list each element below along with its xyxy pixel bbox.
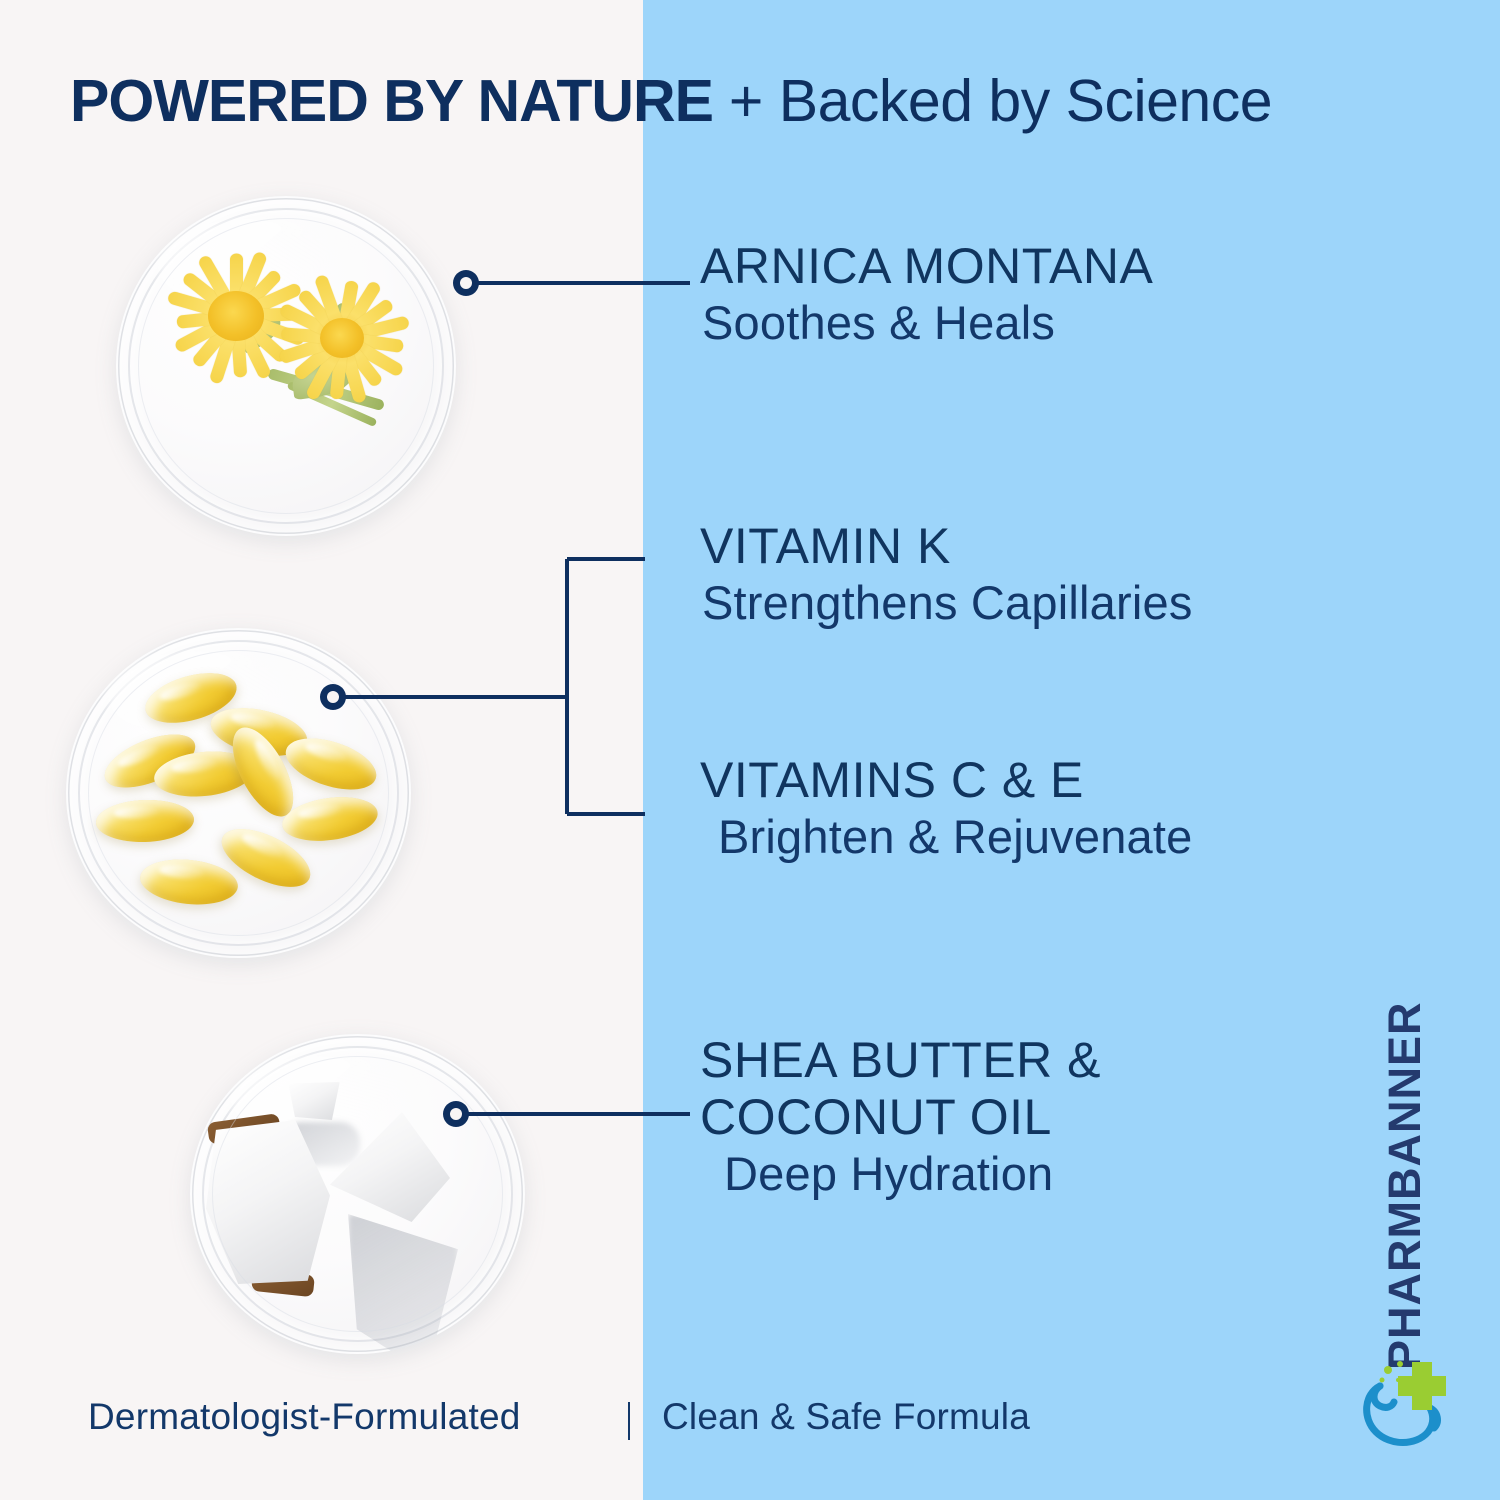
- softgel-capsule: [280, 729, 383, 800]
- ingredient-arnica: ARNICA MONTANA Soothes & Heals: [700, 238, 1153, 350]
- ingredient-vitamins-c-e: VITAMINS C & E Brighten & Rejuvenate: [700, 752, 1193, 864]
- softgel-capsules-petri-dish: [66, 628, 411, 958]
- flower-stem: [267, 368, 385, 412]
- flower-center: [320, 318, 364, 358]
- headline-bold: POWERED BY NATURE: [70, 68, 713, 134]
- flower-center: [208, 291, 264, 341]
- footer-claim-left: Dermatologist-Formulated: [88, 1396, 521, 1438]
- ingredient-shea-coconut: SHEA BUTTER & COCONUT OIL Deep Hydration: [700, 1032, 1101, 1201]
- flower-leaf: [316, 302, 356, 346]
- softgel-capsule: [206, 700, 311, 763]
- coconut-pieces-petri-dish: [190, 1034, 525, 1354]
- coconut-shadow: [282, 1122, 360, 1166]
- ingredient-vitamin-k: VITAMIN K Strengthens Capillaries: [700, 518, 1193, 630]
- coconut-piece: [330, 1112, 450, 1222]
- ingredient-title-vitamin-k: VITAMIN K: [700, 518, 1193, 575]
- softgel-capsule: [138, 855, 240, 909]
- ingredient-title-vitamins-c-e: VITAMINS C & E: [700, 752, 1193, 809]
- brand-block: PHARMBANNER: [1372, 950, 1442, 1370]
- arnica-flower-petri-dish: [116, 196, 456, 536]
- flower-leaf: [236, 311, 287, 354]
- softgel-capsule: [152, 747, 256, 801]
- dish-gloss: [230, 1053, 438, 1149]
- page-title: POWERED BY NATURE + Backed by Science: [70, 72, 1470, 131]
- ingredient-subtitle-vitamin-k: Strengthens Capillaries: [702, 575, 1193, 630]
- ingredient-title-arnica: ARNICA MONTANA: [700, 238, 1153, 295]
- softgel-capsule: [95, 798, 194, 843]
- footer-divider: [628, 1402, 630, 1440]
- softgel-capsule: [221, 718, 306, 825]
- headline-light: + Backed by Science: [713, 68, 1272, 134]
- softgel-capsule: [140, 664, 242, 732]
- coconut-piece: [206, 1120, 330, 1284]
- dish-gloss: [107, 648, 321, 747]
- dish-gloss: [157, 216, 368, 318]
- ingredient-title-shea-line1: SHEA BUTTER &: [700, 1032, 1101, 1089]
- softgel-capsule: [98, 724, 203, 799]
- brand-name: PHARMBANNER: [1372, 950, 1438, 1370]
- ingredient-subtitle-shea: Deep Hydration: [724, 1146, 1101, 1201]
- softgel-capsule: [280, 792, 381, 847]
- coconut-husk: [251, 1269, 315, 1297]
- softgel-capsule: [213, 817, 319, 899]
- coconut-piece: [286, 1082, 342, 1120]
- ingredient-benefits-banner: POWERED BY NATURE + Backed by Science: [0, 0, 1500, 1500]
- flower-stem: [287, 381, 378, 427]
- footer-claim-right: Clean & Safe Formula: [662, 1396, 1030, 1438]
- flower-leaf: [290, 358, 356, 400]
- ingredient-title-shea-line2: COCONUT OIL: [700, 1089, 1101, 1146]
- ingredient-subtitle-arnica: Soothes & Heals: [702, 295, 1153, 350]
- stethoscope-medical-cross-logo: [1354, 1350, 1464, 1460]
- ingredient-subtitle-vitamins-c-e: Brighten & Rejuvenate: [718, 809, 1193, 864]
- footer-claims: Dermatologist-Formulated Clean & Safe Fo…: [0, 1396, 1500, 1456]
